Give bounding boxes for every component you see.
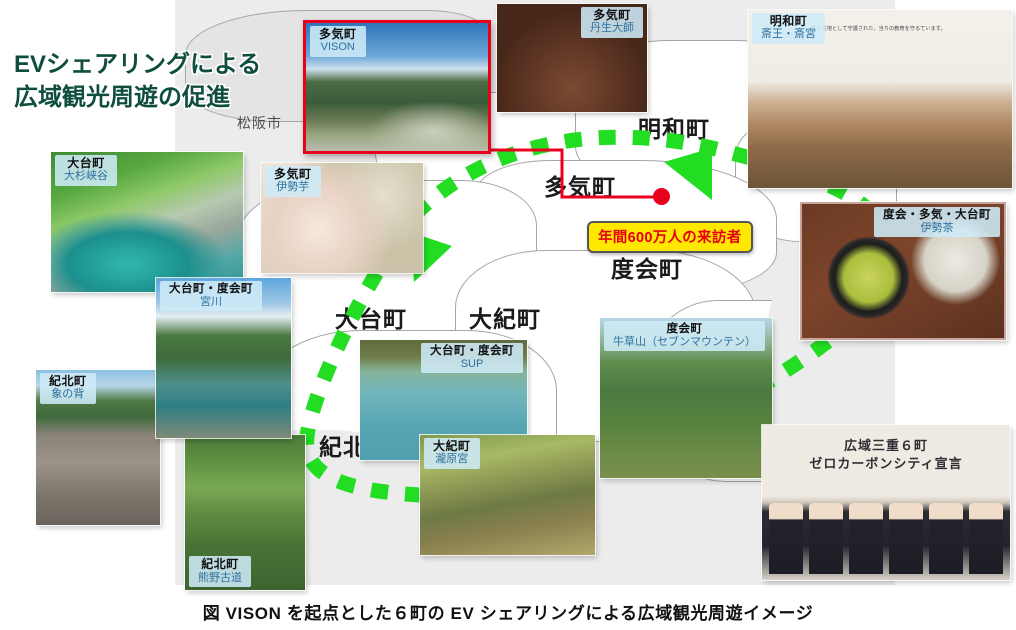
photo-kumano-kodo-town: 紀北町 xyxy=(198,558,242,571)
map-label-taki-cho: 多気町 xyxy=(544,168,616,202)
photo-vison-spot: VISON xyxy=(319,41,357,53)
map-label-odai-cho: 大台町 xyxy=(335,300,407,334)
photo-nyudaishi-caption: 多気町 丹生大師 xyxy=(581,7,643,38)
photo-sup-caption: 大台町・度会町 SUP xyxy=(421,343,523,373)
photo-sup-town: 大台町・度会町 xyxy=(430,345,514,358)
photo-saio-saiku-town: 明和町 xyxy=(761,15,816,28)
zero-carbon-line2: ゼロカーボンシティ宣言 xyxy=(762,455,1010,473)
photo-takiharanomiya-town: 大紀町 xyxy=(433,440,471,453)
photo-iseimo[interactable]: 多気町 伊勢芋 xyxy=(261,163,423,273)
photo-ushikusayama-town: 度会町 xyxy=(613,323,756,336)
photo-osugidani-caption: 大台町 大杉峡谷 xyxy=(55,155,117,186)
photo-osugidani-spot: 大杉峡谷 xyxy=(64,170,108,182)
photo-osugidani[interactable]: 大台町 大杉峡谷 xyxy=(51,152,243,292)
photo-nyudaishi-spot: 丹生大師 xyxy=(590,22,634,34)
photo-nyudaishi-town: 多気町 xyxy=(590,9,634,22)
map-label-watarai-cho: 度会町 xyxy=(611,250,683,284)
photo-iseimo-town: 多気町 xyxy=(274,168,312,181)
photo-takiharanomiya-caption: 大紀町 瀧原宮 xyxy=(424,438,480,469)
annual-visitors-callout: 年間600万人の来訪者 xyxy=(587,221,753,253)
photo-kumano-kodo-spot: 熊野古道 xyxy=(198,572,242,584)
photo-miyagawa[interactable]: 大台町・度会町 宮川 xyxy=(156,278,291,438)
photo-vison[interactable]: 多気町 VISON xyxy=(303,20,491,154)
photo-isecha-caption: 度会・多気・大台町 伊勢茶 xyxy=(874,207,1000,237)
photo-saio-saiku-note: 都を主地として守護された、当りの教育を守るています。 xyxy=(811,26,954,34)
photo-miyagawa-town: 大台町・度会町 xyxy=(169,283,253,296)
ceremony-people-row xyxy=(769,503,1002,574)
photo-kumano-kodo-caption: 紀北町 熊野古道 xyxy=(189,556,251,587)
photo-sup-spot: SUP xyxy=(430,358,514,370)
map-label-meiwa-cho: 明和町 xyxy=(638,110,710,144)
page-title-line1: EVシェアリングによる xyxy=(14,48,314,81)
photo-ushikusayama-caption: 度会町 牛草山（セブンマウンテン） xyxy=(604,321,765,351)
photo-miyagawa-caption: 大台町・度会町 宮川 xyxy=(160,281,262,311)
photo-iseimo-spot: 伊勢芋 xyxy=(274,181,312,193)
photo-kumano-kodo[interactable]: 紀北町 熊野古道 xyxy=(185,435,305,590)
zero-carbon-banner: 広域三重６町 ゼロカーボンシティ宣言 xyxy=(762,437,1010,472)
map-label-matsusaka-shi: 松阪市 xyxy=(237,113,282,133)
vison-hub-dot xyxy=(653,188,670,205)
photo-isecha[interactable]: 度会・多気・大台町 伊勢茶 xyxy=(800,202,1006,340)
figure-caption: 図 VISON を起点とした６町の EV シェアリングによる広域観光周遊イメージ xyxy=(0,599,1016,624)
photo-miyagawa-spot: 宮川 xyxy=(169,296,253,308)
photo-isecha-spot: 伊勢茶 xyxy=(883,222,991,234)
map-label-taiki-cho: 大紀町 xyxy=(469,300,541,334)
photo-ushikusayama-spot: 牛草山（セブンマウンテン） xyxy=(613,336,756,348)
photo-vison-caption: 多気町 VISON xyxy=(310,26,366,57)
photo-nyudaishi[interactable]: 多気町 丹生大師 xyxy=(497,4,647,112)
photo-zo-no-se-caption: 紀北町 象の背 xyxy=(40,373,96,404)
photo-saio-saiku-caption: 明和町 斎王・斎宮 xyxy=(752,13,825,44)
photo-zo-no-se-town: 紀北町 xyxy=(49,375,87,388)
photo-takiharanomiya[interactable]: 大紀町 瀧原宮 xyxy=(420,435,595,555)
page-title-line2: 広域観光周遊の促進 xyxy=(14,81,314,114)
figure-root: 松阪市 明和町 多気町 度会町 大台町 大紀町 紀北町 年間600万人の来訪者 … xyxy=(0,0,1016,630)
photo-osugidani-town: 大台町 xyxy=(64,157,108,170)
photo-isecha-town: 度会・多気・大台町 xyxy=(883,209,991,222)
annual-visitors-text: 年間600万人の来訪者 xyxy=(598,230,742,246)
photo-vison-town: 多気町 xyxy=(319,28,357,41)
photo-zo-no-se-spot: 象の背 xyxy=(49,388,87,400)
photo-ushikusayama[interactable]: 度会町 牛草山（セブンマウンテン） xyxy=(600,318,772,478)
zero-carbon-line1: 広域三重６町 xyxy=(762,437,1010,455)
photo-saio-saiku[interactable]: 都を主地として守護された、当りの教育を守るています。 明和町 斎王・斎宮 xyxy=(748,10,1012,188)
photo-saio-saiku-spot: 斎王・斎宮 xyxy=(761,28,816,40)
photo-zero-carbon-declaration[interactable]: 広域三重６町 ゼロカーボンシティ宣言 xyxy=(762,425,1010,580)
photo-iseimo-caption: 多気町 伊勢芋 xyxy=(265,166,321,197)
page-title: EVシェアリングによる 広域観光周遊の促進 xyxy=(14,48,314,114)
photo-zo-no-se[interactable]: 紀北町 象の背 xyxy=(36,370,160,525)
photo-takiharanomiya-spot: 瀧原宮 xyxy=(433,453,471,465)
